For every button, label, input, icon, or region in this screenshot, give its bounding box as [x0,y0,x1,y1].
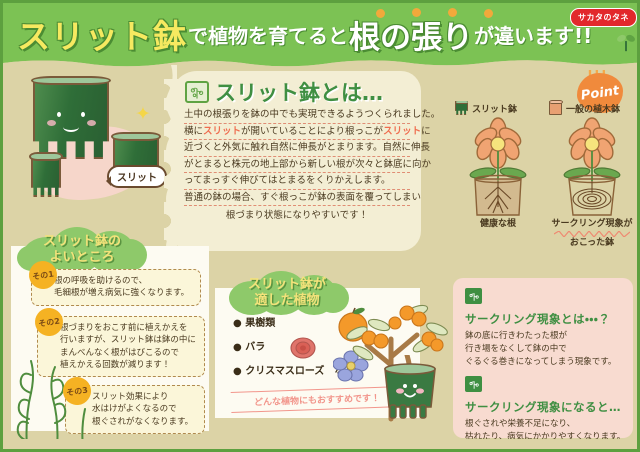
circling-heading-2: サークリング現象になると… [465,399,623,415]
header-banner: スリット鉢 で植物を育てると 根の張り が違います!! サカタのタネ [3,3,640,61]
slit-callout-bubble: スリット [107,165,167,188]
panel-what-header: スリット鉢とは… [185,77,383,107]
seedling-square-icon [185,81,209,103]
healthy-plant-illustration [455,115,541,219]
good-point-1-line-2: 毛細根が増え病気に強くなります。 [54,287,194,299]
panel-what-body: 土中の根張りを鉢の中でも実現できるようつくられました。横にスリットが開いているこ… [184,107,410,224]
circling-plant-illustration [549,115,635,219]
panel-what-closing-line: 根づまり状態になりやすいです！ [184,206,410,224]
circling-1-line-1: 鉢の底に行きわたった根が [465,330,623,343]
good-point-1-line-1: 根の呼吸を助けるので、 [54,275,194,287]
highlight-slit-word: スリット [203,126,241,137]
vine-decoration [7,357,102,449]
rose-icon [287,333,321,363]
comparison-column-slit-pot: スリット鉢 [455,99,541,117]
comparison-caption-1: サークリング現象が おこった鉢 [549,219,635,250]
sparkle-icon: ✦ [135,105,151,124]
page-title: スリット鉢 で植物を育てると 根の張り が違います!! [17,11,617,57]
good-point-3-line-3: 根ぐされがなくなります。 [92,416,198,428]
panel-what-heading: スリット鉢とは… [215,77,383,107]
panel-what-line-1: 横にスリットが開いていることにより根っこがスリットに [184,124,410,141]
good-point-3-line-2: 水はけがよくなるので [92,403,198,415]
panel-what-line-2: 近づくと外気に触れ自然に伸長がとまります。自然に伸長 [184,140,410,157]
slit-pot-small [31,155,61,197]
slit-pot-icon [455,101,468,115]
panel-what-line-4: ってまっすぐ伸びてはとまるをくりかえします。 [184,173,410,190]
slit-pot-bottom-illustration [381,355,439,421]
title-part-2: で植物を育てると [187,20,349,49]
circling-heading-1: サークリング現象とは・・・？ [465,311,623,327]
good-point-2-line-2: 行いますが、スリット鉢は鉢の中に [60,334,198,346]
sakata-logo[interactable]: サカタのタネ [570,8,637,27]
circling-1-line-2: 行き場をなくして鉢の中で [465,343,623,356]
good-point-item-1: その1 根の呼吸を助けるので、 毛細根が増え病気に強くなります。 [31,269,201,306]
comparison-label-0: スリット鉢 [472,102,517,115]
slit-pot-large [33,79,109,159]
slit-pot-illustration: ✦ ✦ ✦ スリット [11,69,181,229]
root-square-icon [465,376,482,392]
circling-1-line-3: ぐるぐる巻きになってしまう現象です。 [465,356,623,369]
title-part-1: スリット鉢 [17,10,187,58]
standard-pot-icon [549,101,562,115]
panel-what-line-0: 土中の根張りを鉢の中でも実現できるようつくられました。 [184,107,410,124]
comparison-caption-0: 健康な根 [455,219,541,230]
highlight-slit-word: スリット [383,126,421,137]
panel-what-line-3: がとまると株元の地上部から新しい根が次々と鉢底に向か [184,157,410,174]
heading-suitable-plants-text: スリット鉢が 適した植物 [225,271,349,315]
good-point-3-line-1: スリット効果により [92,391,198,403]
circling-2-line-1: 根ぐされや栄養不足になり、 [465,418,623,431]
comparison-column-standard-pot: 一般の植木鉢 [549,99,635,117]
heading-suitable-plants: スリット鉢が 適した植物 [225,271,349,315]
infographic-poster: スリット鉢 で植物を育てると 根の張り が違います!! サカタのタネ ✦ ✦ ✦ [0,0,640,452]
root-square-icon [465,288,482,304]
bottom-frame-strip [3,439,640,449]
squiggle-underline [554,231,630,237]
comparison-label-1: 一般の植木鉢 [566,102,620,115]
sprout-icon [615,31,637,53]
panel-what-is-slit-pot: スリット鉢とは… 土中の根張りを鉢の中でも実現できるようつくられました。横にスリ… [171,71,421,251]
title-part-3: 根の張り [349,12,473,57]
plant-comparison: スリット鉢 [455,99,639,249]
panel-circling-phenomenon: サークリング現象とは・・・？ 鉢の底に行きわたった根が 行き場をなくして鉢の中で… [453,278,633,438]
panel-what-line-5: 普通の鉢の場合、すぐ根っこが鉢の表面を覆ってしまい [184,190,410,207]
good-point-2-line-1: 根づまりをおこす前に植えかえを [60,322,198,334]
